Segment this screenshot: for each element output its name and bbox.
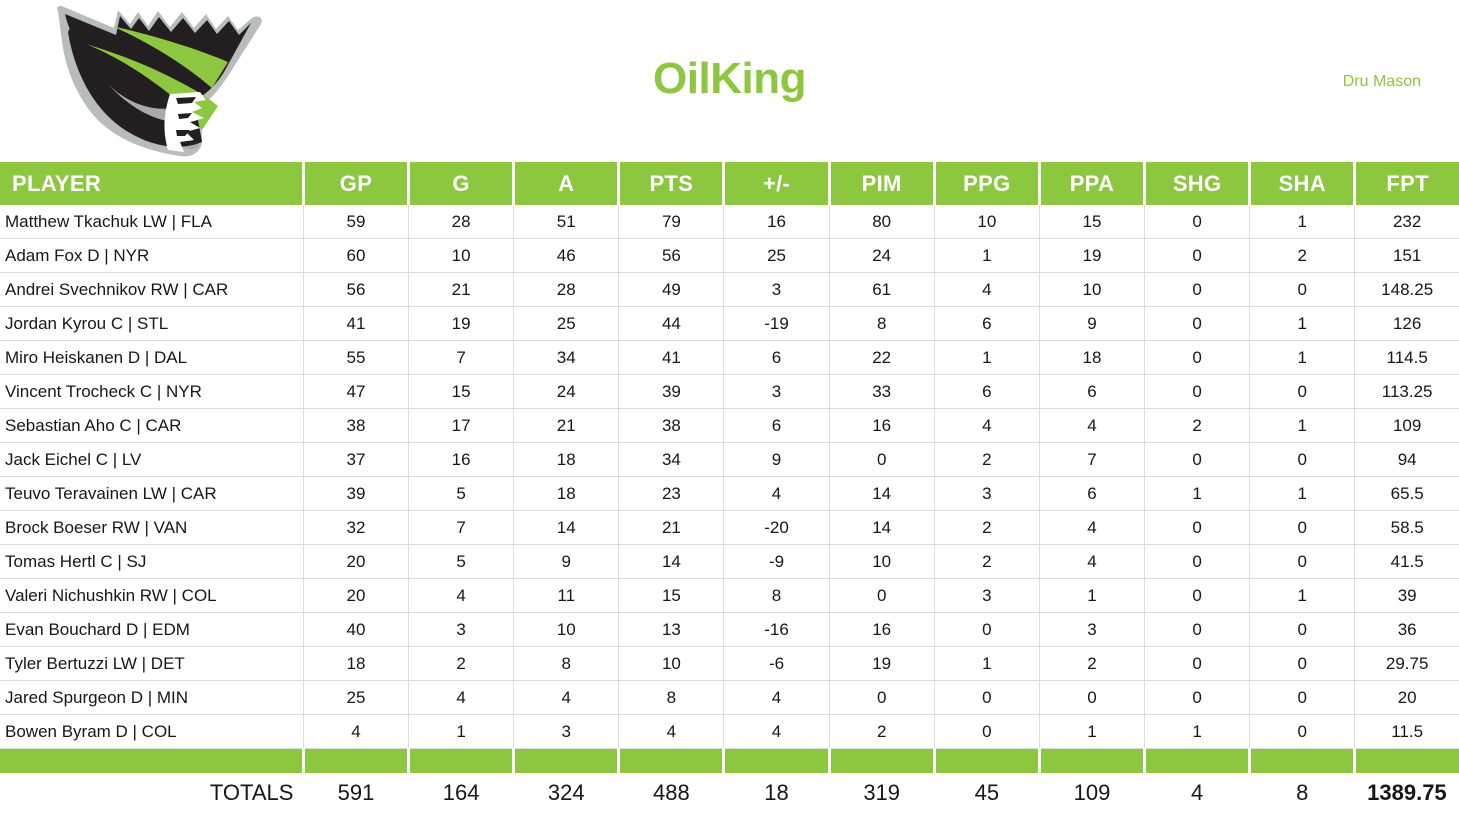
stat-cell-pim: 14	[829, 511, 934, 545]
stat-cell-ppa: 9	[1039, 307, 1144, 341]
stat-cell-pts: 41	[619, 341, 724, 375]
column-header-a[interactable]: A	[514, 162, 619, 205]
table-row[interactable]: Jordan Kyrou C | STL41192544-1986901126	[0, 307, 1459, 341]
stat-cell-fpt: 65.5	[1355, 477, 1459, 511]
stat-cell-shg: 1	[1145, 477, 1250, 511]
stat-cell-gp: 60	[303, 239, 408, 273]
stat-cell-sha: 2	[1250, 239, 1355, 273]
table-row[interactable]: Teuvo Teravainen LW | CAR395182341436116…	[0, 477, 1459, 511]
stat-cell-ppa: 3	[1039, 613, 1144, 647]
stat-cell-pim: 0	[829, 579, 934, 613]
stat-cell-a: 25	[514, 307, 619, 341]
stat-cell-shg: 0	[1145, 545, 1250, 579]
stat-cell-ppg: 2	[934, 511, 1039, 545]
stat-cell-ppa: 7	[1039, 443, 1144, 477]
stat-cell-shg: 0	[1145, 375, 1250, 409]
stat-cell-fpt: 109	[1355, 409, 1459, 443]
table-header: PLAYER GP G A PTS +/- PIM PPG PPA SHG SH…	[0, 162, 1459, 205]
stat-cell-gp: 4	[303, 715, 408, 749]
stat-cell-shg: 0	[1145, 443, 1250, 477]
totals-sha: 8	[1250, 773, 1355, 812]
totals-ppg: 45	[934, 773, 1039, 812]
stat-cell-g: 2	[409, 647, 514, 681]
stat-cell-ppa: 1	[1039, 579, 1144, 613]
stat-cell-plusminus: -19	[724, 307, 829, 341]
player-name-cell[interactable]: Andrei Svechnikov RW | CAR	[0, 273, 303, 307]
stat-cell-shg: 0	[1145, 647, 1250, 681]
stat-cell-pim: 33	[829, 375, 934, 409]
stat-cell-gp: 59	[303, 205, 408, 239]
stat-cell-fpt: 20	[1355, 681, 1459, 715]
stat-cell-ppa: 15	[1039, 205, 1144, 239]
stat-cell-a: 46	[514, 239, 619, 273]
page-header: OilKing Dru Mason	[0, 0, 1459, 162]
stat-cell-sha: 1	[1250, 477, 1355, 511]
stat-cell-gp: 25	[303, 681, 408, 715]
stat-cell-g: 5	[409, 477, 514, 511]
stat-cell-pts: 79	[619, 205, 724, 239]
table-row[interactable]: Matthew Tkachuk LW | FLA5928517916801015…	[0, 205, 1459, 239]
stat-cell-sha: 1	[1250, 205, 1355, 239]
stat-cell-pts: 13	[619, 613, 724, 647]
column-header-plusminus[interactable]: +/-	[724, 162, 829, 205]
player-name-cell[interactable]: Valeri Nichushkin RW | COL	[0, 579, 303, 613]
stat-cell-sha: 0	[1250, 511, 1355, 545]
column-header-pim[interactable]: PIM	[829, 162, 934, 205]
totals-fpt: 1389.75	[1355, 773, 1459, 812]
stat-cell-pim: 2	[829, 715, 934, 749]
table-row[interactable]: Sebastian Aho C | CAR381721386164421109	[0, 409, 1459, 443]
stat-cell-ppa: 6	[1039, 375, 1144, 409]
stat-cell-pim: 19	[829, 647, 934, 681]
column-header-fpt[interactable]: FPT	[1355, 162, 1459, 205]
stat-cell-pts: 39	[619, 375, 724, 409]
stat-cell-gp: 47	[303, 375, 408, 409]
stat-cell-ppa: 6	[1039, 477, 1144, 511]
stat-cell-sha: 1	[1250, 409, 1355, 443]
stat-cell-shg: 0	[1145, 681, 1250, 715]
roster-stats-table: PLAYER GP G A PTS +/- PIM PPG PPA SHG SH…	[0, 162, 1459, 812]
stat-cell-ppa: 4	[1039, 511, 1144, 545]
stat-cell-shg: 0	[1145, 613, 1250, 647]
player-name-cell[interactable]: Tyler Bertuzzi LW | DET	[0, 647, 303, 681]
stat-cell-a: 3	[514, 715, 619, 749]
stat-cell-g: 28	[409, 205, 514, 239]
stat-cell-ppa: 10	[1039, 273, 1144, 307]
table-row[interactable]: Jared Spurgeon D | MIN2544840000020	[0, 681, 1459, 715]
column-header-gp[interactable]: GP	[303, 162, 408, 205]
stat-cell-plusminus: 25	[724, 239, 829, 273]
stat-cell-shg: 2	[1145, 409, 1250, 443]
player-name-cell[interactable]: Teuvo Teravainen LW | CAR	[0, 477, 303, 511]
table-row[interactable]: Tomas Hertl C | SJ205914-910240041.5	[0, 545, 1459, 579]
stat-cell-sha: 0	[1250, 715, 1355, 749]
stat-cell-sha: 0	[1250, 545, 1355, 579]
stat-cell-plusminus: 4	[724, 477, 829, 511]
team-owner-label: Dru Mason	[1343, 73, 1421, 91]
spacer-cell-pts	[619, 749, 724, 774]
stat-cell-ppg: 6	[934, 375, 1039, 409]
stat-cell-fpt: 126	[1355, 307, 1459, 341]
stat-cell-sha: 0	[1250, 273, 1355, 307]
stat-cell-sha: 0	[1250, 681, 1355, 715]
spacer-cell-shg	[1145, 749, 1250, 774]
stat-cell-ppa: 4	[1039, 409, 1144, 443]
stat-cell-plusminus: -16	[724, 613, 829, 647]
stat-cell-fpt: 114.5	[1355, 341, 1459, 375]
stat-cell-a: 4	[514, 681, 619, 715]
stat-cell-fpt: 58.5	[1355, 511, 1459, 545]
stat-cell-ppa: 2	[1039, 647, 1144, 681]
player-name-cell[interactable]: Jared Spurgeon D | MIN	[0, 681, 303, 715]
totals-gp: 591	[303, 773, 408, 812]
player-name-cell[interactable]: Bowen Byram D | COL	[0, 715, 303, 749]
stat-cell-a: 21	[514, 409, 619, 443]
stat-cell-pts: 34	[619, 443, 724, 477]
stat-cell-pim: 16	[829, 613, 934, 647]
stat-cell-gp: 18	[303, 647, 408, 681]
stat-cell-ppg: 4	[934, 409, 1039, 443]
column-header-player[interactable]: PLAYER	[0, 162, 303, 205]
stat-cell-pim: 10	[829, 545, 934, 579]
stat-cell-ppg: 10	[934, 205, 1039, 239]
stat-cell-pts: 4	[619, 715, 724, 749]
player-rows-body: Matthew Tkachuk LW | FLA5928517916801015…	[0, 205, 1459, 749]
stat-cell-pim: 16	[829, 409, 934, 443]
stat-cell-ppa: 18	[1039, 341, 1144, 375]
stat-cell-pim: 8	[829, 307, 934, 341]
spacer-cell-fpt	[1355, 749, 1459, 774]
stat-cell-ppg: 4	[934, 273, 1039, 307]
stat-cell-shg: 0	[1145, 341, 1250, 375]
stat-cell-ppg: 3	[934, 579, 1039, 613]
stat-cell-shg: 0	[1145, 511, 1250, 545]
stat-cell-g: 4	[409, 681, 514, 715]
stat-cell-sha: 0	[1250, 647, 1355, 681]
stat-cell-pim: 0	[829, 681, 934, 715]
stat-cell-ppa: 1	[1039, 715, 1144, 749]
stat-cell-pts: 23	[619, 477, 724, 511]
stat-cell-gp: 20	[303, 545, 408, 579]
stat-cell-a: 9	[514, 545, 619, 579]
stat-cell-a: 18	[514, 477, 619, 511]
stat-cell-fpt: 39	[1355, 579, 1459, 613]
stat-cell-plusminus: 6	[724, 409, 829, 443]
stat-cell-gp: 20	[303, 579, 408, 613]
stat-cell-pts: 56	[619, 239, 724, 273]
stat-cell-a: 28	[514, 273, 619, 307]
stat-cell-pim: 14	[829, 477, 934, 511]
spacer-cell-a	[514, 749, 619, 774]
player-name-cell[interactable]: Evan Bouchard D | EDM	[0, 613, 303, 647]
column-header-g[interactable]: G	[409, 162, 514, 205]
player-name-cell[interactable]: Matthew Tkachuk LW | FLA	[0, 205, 303, 239]
stat-cell-pts: 49	[619, 273, 724, 307]
table-row[interactable]: Tyler Bertuzzi LW | DET182810-619120029.…	[0, 647, 1459, 681]
stat-cell-plusminus: -9	[724, 545, 829, 579]
stat-cell-ppg: 2	[934, 443, 1039, 477]
stat-cell-pts: 14	[619, 545, 724, 579]
table-row[interactable]: Jack Eichel C | LV3716183490270094	[0, 443, 1459, 477]
stat-cell-g: 15	[409, 375, 514, 409]
player-name-cell[interactable]: Sebastian Aho C | CAR	[0, 409, 303, 443]
table-row[interactable]: Valeri Nichushkin RW | COL20411158031013…	[0, 579, 1459, 613]
spacer-cell-g	[409, 749, 514, 774]
spacer-cell-pim	[829, 749, 934, 774]
column-header-shg[interactable]: SHG	[1145, 162, 1250, 205]
stat-cell-ppg: 6	[934, 307, 1039, 341]
spacer-cell-ppg	[934, 749, 1039, 774]
table-row[interactable]: Vincent Trocheck C | NYR4715243933366001…	[0, 375, 1459, 409]
stat-cell-gp: 37	[303, 443, 408, 477]
stat-cell-plusminus: 3	[724, 375, 829, 409]
spacer-cell-player	[0, 749, 303, 774]
green-spacer-row	[0, 749, 1459, 774]
column-header-ppg[interactable]: PPG	[934, 162, 1039, 205]
table-footer: TOTALS 591 164 324 488 18 319 45 109 4 8…	[0, 749, 1459, 813]
stat-cell-sha: 0	[1250, 375, 1355, 409]
stat-cell-pts: 21	[619, 511, 724, 545]
stat-cell-plusminus: 9	[724, 443, 829, 477]
stat-cell-fpt: 29.75	[1355, 647, 1459, 681]
stat-cell-gp: 32	[303, 511, 408, 545]
player-name-cell[interactable]: Adam Fox D | NYR	[0, 239, 303, 273]
stat-cell-gp: 39	[303, 477, 408, 511]
stat-cell-fpt: 41.5	[1355, 545, 1459, 579]
stat-cell-g: 16	[409, 443, 514, 477]
stat-cell-a: 34	[514, 341, 619, 375]
stat-cell-plusminus: 4	[724, 681, 829, 715]
stat-cell-sha: 0	[1250, 613, 1355, 647]
stat-cell-ppg: 3	[934, 477, 1039, 511]
stat-cell-g: 4	[409, 579, 514, 613]
totals-label: TOTALS	[0, 773, 303, 812]
stat-cell-plusminus: 6	[724, 341, 829, 375]
spacer-cell-sha	[1250, 749, 1355, 774]
stat-cell-g: 21	[409, 273, 514, 307]
stat-cell-shg: 0	[1145, 205, 1250, 239]
stat-cell-g: 10	[409, 239, 514, 273]
stat-cell-ppg: 0	[934, 715, 1039, 749]
page-title: OilKing	[0, 54, 1459, 104]
stat-cell-shg: 1	[1145, 715, 1250, 749]
stat-cell-gp: 40	[303, 613, 408, 647]
stat-cell-plusminus: -6	[724, 647, 829, 681]
stat-cell-g: 7	[409, 511, 514, 545]
player-name-cell[interactable]: Miro Heiskanen D | DAL	[0, 341, 303, 375]
stat-cell-ppg: 1	[934, 647, 1039, 681]
totals-row: TOTALS 591 164 324 488 18 319 45 109 4 8…	[0, 773, 1459, 812]
player-name-cell[interactable]: Tomas Hertl C | SJ	[0, 545, 303, 579]
table-row[interactable]: Miro Heiskanen D | DAL557344162211801114…	[0, 341, 1459, 375]
stat-cell-plusminus: 8	[724, 579, 829, 613]
table-row[interactable]: Brock Boeser RW | VAN3271421-2014240058.…	[0, 511, 1459, 545]
stat-cell-g: 7	[409, 341, 514, 375]
stat-cell-shg: 0	[1145, 239, 1250, 273]
stat-cell-fpt: 11.5	[1355, 715, 1459, 749]
player-name-cell[interactable]: Vincent Trocheck C | NYR	[0, 375, 303, 409]
stat-cell-fpt: 36	[1355, 613, 1459, 647]
stat-cell-pim: 80	[829, 205, 934, 239]
stat-cell-a: 24	[514, 375, 619, 409]
column-header-ppa[interactable]: PPA	[1039, 162, 1144, 205]
stat-cell-ppa: 0	[1039, 681, 1144, 715]
stat-cell-ppg: 0	[934, 613, 1039, 647]
spacer-cell-plusminus	[724, 749, 829, 774]
stat-cell-gp: 41	[303, 307, 408, 341]
totals-ppa: 109	[1039, 773, 1144, 812]
table-row[interactable]: Andrei Svechnikov RW | CAR56212849361410…	[0, 273, 1459, 307]
table-row[interactable]: Evan Bouchard D | EDM4031013-1616030036	[0, 613, 1459, 647]
stat-cell-pts: 10	[619, 647, 724, 681]
stat-cell-sha: 1	[1250, 579, 1355, 613]
stat-cell-g: 5	[409, 545, 514, 579]
stat-cell-a: 10	[514, 613, 619, 647]
stat-cell-gp: 38	[303, 409, 408, 443]
stat-cell-pim: 61	[829, 273, 934, 307]
column-header-sha[interactable]: SHA	[1250, 162, 1355, 205]
stat-cell-g: 1	[409, 715, 514, 749]
totals-pim: 319	[829, 773, 934, 812]
stat-cell-pim: 22	[829, 341, 934, 375]
column-header-pts[interactable]: PTS	[619, 162, 724, 205]
stat-cell-plusminus: 4	[724, 715, 829, 749]
stat-cell-ppa: 19	[1039, 239, 1144, 273]
totals-g: 164	[409, 773, 514, 812]
stat-cell-fpt: 94	[1355, 443, 1459, 477]
stat-cell-g: 17	[409, 409, 514, 443]
stat-cell-ppg: 1	[934, 239, 1039, 273]
stat-cell-ppg: 0	[934, 681, 1039, 715]
stat-cell-pts: 15	[619, 579, 724, 613]
stat-cell-pts: 8	[619, 681, 724, 715]
stat-cell-a: 51	[514, 205, 619, 239]
spacer-cell-ppa	[1039, 749, 1144, 774]
stat-cell-ppg: 2	[934, 545, 1039, 579]
totals-plusminus: 18	[724, 773, 829, 812]
spacer-cell-gp	[303, 749, 408, 774]
stat-cell-a: 14	[514, 511, 619, 545]
stat-cell-fpt: 113.25	[1355, 375, 1459, 409]
stat-cell-ppg: 1	[934, 341, 1039, 375]
stat-cell-sha: 1	[1250, 341, 1355, 375]
stat-cell-gp: 56	[303, 273, 408, 307]
stat-cell-fpt: 151	[1355, 239, 1459, 273]
stat-cell-ppa: 4	[1039, 545, 1144, 579]
stat-cell-plusminus: 16	[724, 205, 829, 239]
stat-cell-shg: 0	[1145, 307, 1250, 341]
stat-cell-plusminus: -20	[724, 511, 829, 545]
stat-cell-sha: 0	[1250, 443, 1355, 477]
totals-pts: 488	[619, 773, 724, 812]
player-name-cell[interactable]: Jack Eichel C | LV	[0, 443, 303, 477]
player-name-cell[interactable]: Brock Boeser RW | VAN	[0, 511, 303, 545]
stat-cell-pts: 38	[619, 409, 724, 443]
player-name-cell[interactable]: Jordan Kyrou C | STL	[0, 307, 303, 341]
stat-cell-pts: 44	[619, 307, 724, 341]
header-row: PLAYER GP G A PTS +/- PIM PPG PPA SHG SH…	[0, 162, 1459, 205]
stat-cell-shg: 0	[1145, 579, 1250, 613]
stat-cell-a: 18	[514, 443, 619, 477]
stat-cell-sha: 1	[1250, 307, 1355, 341]
stat-cell-gp: 55	[303, 341, 408, 375]
stat-cell-g: 3	[409, 613, 514, 647]
stat-cell-plusminus: 3	[724, 273, 829, 307]
totals-shg: 4	[1145, 773, 1250, 812]
stat-cell-a: 8	[514, 647, 619, 681]
table-row[interactable]: Bowen Byram D | COL413442011011.5	[0, 715, 1459, 749]
stat-cell-fpt: 148.25	[1355, 273, 1459, 307]
table-row[interactable]: Adam Fox D | NYR60104656252411902151	[0, 239, 1459, 273]
stat-cell-fpt: 232	[1355, 205, 1459, 239]
totals-a: 324	[514, 773, 619, 812]
stat-cell-pim: 24	[829, 239, 934, 273]
stat-cell-pim: 0	[829, 443, 934, 477]
stat-cell-shg: 0	[1145, 273, 1250, 307]
stat-cell-g: 19	[409, 307, 514, 341]
stat-cell-a: 11	[514, 579, 619, 613]
